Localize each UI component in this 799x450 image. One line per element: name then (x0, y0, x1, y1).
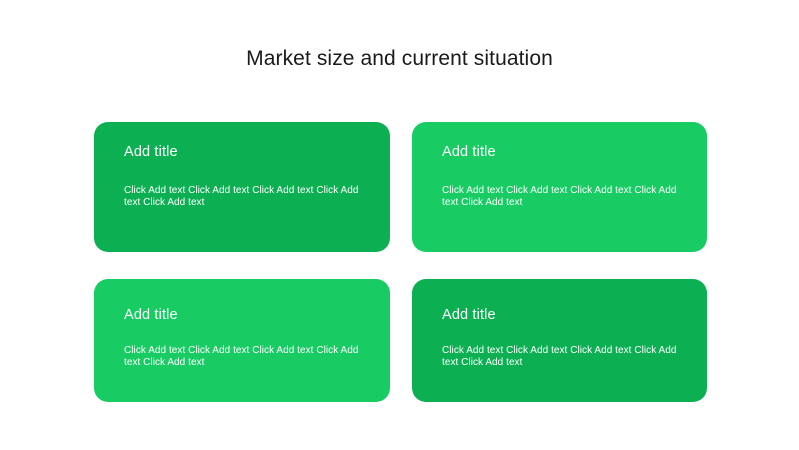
page-title: Market size and current situation (0, 47, 799, 71)
card-grid: Add title Click Add text Click Add text … (94, 122, 707, 402)
card-3-body[interactable]: Click Add text Click Add text Click Add … (124, 345, 364, 369)
card-1-body[interactable]: Click Add text Click Add text Click Add … (124, 185, 364, 209)
slide-canvas: Market size and current situation Add ti… (0, 0, 799, 450)
card-4-title[interactable]: Add title (442, 307, 496, 323)
content-card-4[interactable]: Add title Click Add text Click Add text … (412, 279, 707, 402)
card-3-title[interactable]: Add title (124, 307, 178, 323)
card-2-body[interactable]: Click Add text Click Add text Click Add … (442, 185, 682, 209)
content-card-3[interactable]: Add title Click Add text Click Add text … (94, 279, 390, 402)
card-1-title[interactable]: Add title (124, 144, 178, 160)
card-2-title[interactable]: Add title (442, 144, 496, 160)
card-4-body[interactable]: Click Add text Click Add text Click Add … (442, 345, 682, 369)
content-card-2[interactable]: Add title Click Add text Click Add text … (412, 122, 707, 252)
content-card-1[interactable]: Add title Click Add text Click Add text … (94, 122, 390, 252)
